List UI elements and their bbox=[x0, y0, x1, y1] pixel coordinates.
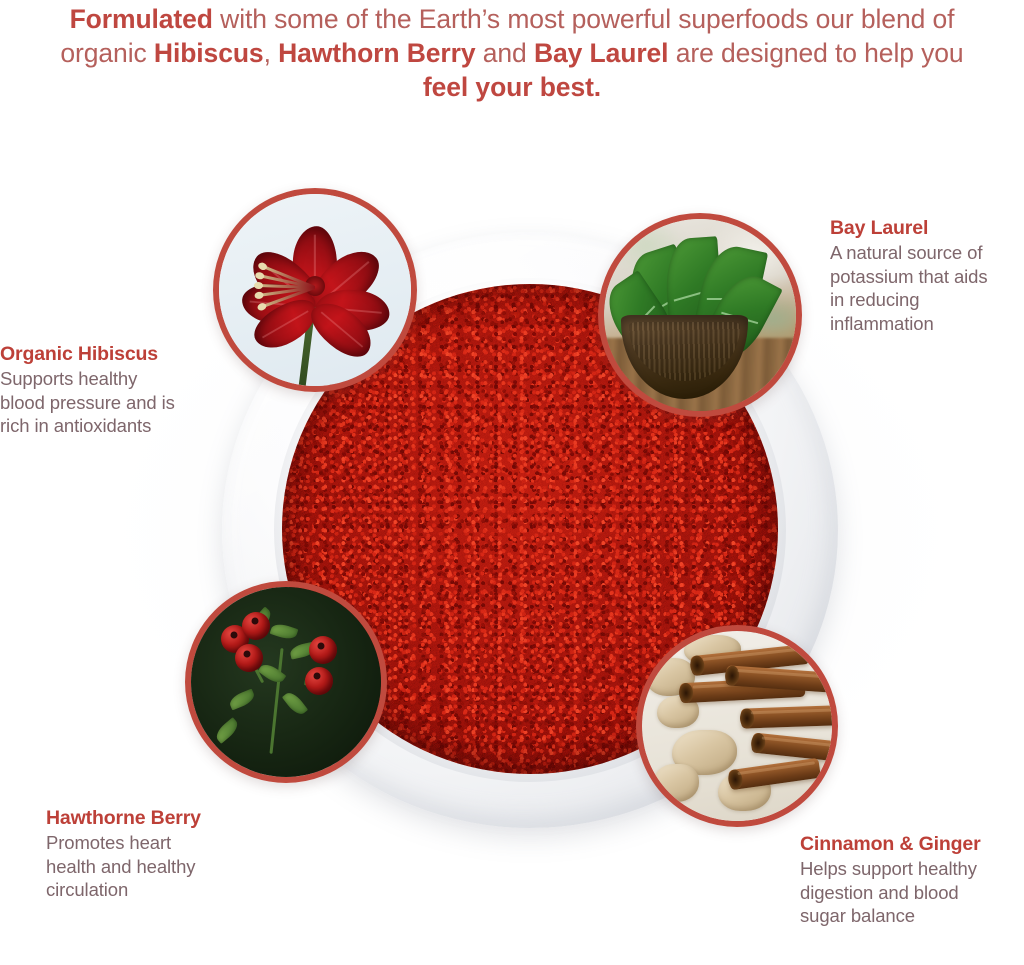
headline-text: , bbox=[264, 38, 279, 68]
cinnamon-sticks-and-ginger-photo bbox=[636, 625, 838, 827]
callout-hibiscus-desc: Supports healthy blood pressure and is r… bbox=[0, 367, 230, 438]
callout-hibiscus-title: Organic Hibiscus bbox=[0, 342, 230, 366]
callout-cinnamon-ginger: Cinnamon & Ginger Helps support healthy … bbox=[800, 832, 1024, 928]
hawthorn-leaf bbox=[269, 621, 298, 641]
headline-emphasis: Formulated bbox=[70, 4, 213, 34]
headline-emphasis: Hawthorn Berry bbox=[278, 38, 475, 68]
headline-emphasis: feel your best. bbox=[423, 72, 601, 102]
cinnamon-stick bbox=[728, 758, 821, 790]
headline-emphasis: Bay Laurel bbox=[534, 38, 669, 68]
callout-hibiscus: Organic Hibiscus Supports healthy blood … bbox=[0, 342, 230, 438]
page-headline: Formulated with some of the Earth’s most… bbox=[0, 0, 1024, 104]
hawthorn-berry bbox=[235, 644, 263, 672]
callout-hawthorne-berry: Hawthorne Berry Promotes heart health an… bbox=[46, 806, 276, 902]
hawthorn-berry bbox=[242, 612, 270, 640]
hawthorn-illustration bbox=[191, 587, 381, 777]
hawthorn-leaf bbox=[228, 689, 257, 711]
dried-ginger-piece bbox=[653, 764, 699, 802]
hawthorn-berry bbox=[305, 667, 333, 695]
cinnamon-stick bbox=[751, 733, 838, 762]
bay-laurel-leaves-photo bbox=[598, 213, 802, 417]
cinnamon-ginger-illustration bbox=[642, 631, 832, 821]
hawthorn-berry bbox=[309, 636, 337, 664]
callout-hawthorne-berry-title: Hawthorne Berry bbox=[46, 806, 276, 830]
headline-emphasis: Hibiscus bbox=[154, 38, 264, 68]
callout-bay-laurel-title: Bay Laurel bbox=[830, 216, 1024, 240]
hawthorn-leaf bbox=[213, 717, 241, 744]
bay-laurel-illustration bbox=[604, 219, 796, 411]
headline-text: and bbox=[475, 38, 533, 68]
hawthorn-berries-photo bbox=[185, 581, 387, 783]
callout-bay-laurel-desc: A natural source of potassium that aids … bbox=[830, 241, 1024, 335]
hibiscus-flower-photo bbox=[213, 188, 417, 392]
hawthorn-leaf bbox=[282, 689, 308, 717]
callout-bay-laurel: Bay Laurel A natural source of potassium… bbox=[830, 216, 1024, 335]
cinnamon-stick bbox=[740, 705, 836, 728]
branch bbox=[269, 648, 283, 754]
callout-hawthorne-berry-desc: Promotes heart health and healthy circul… bbox=[46, 831, 276, 902]
hibiscus-illustration bbox=[219, 194, 411, 386]
callout-cinnamon-ginger-title: Cinnamon & Ginger bbox=[800, 832, 1024, 856]
headline-text: are designed to help you bbox=[668, 38, 963, 68]
callout-cinnamon-ginger-desc: Helps support healthy digestion and bloo… bbox=[800, 857, 1024, 928]
